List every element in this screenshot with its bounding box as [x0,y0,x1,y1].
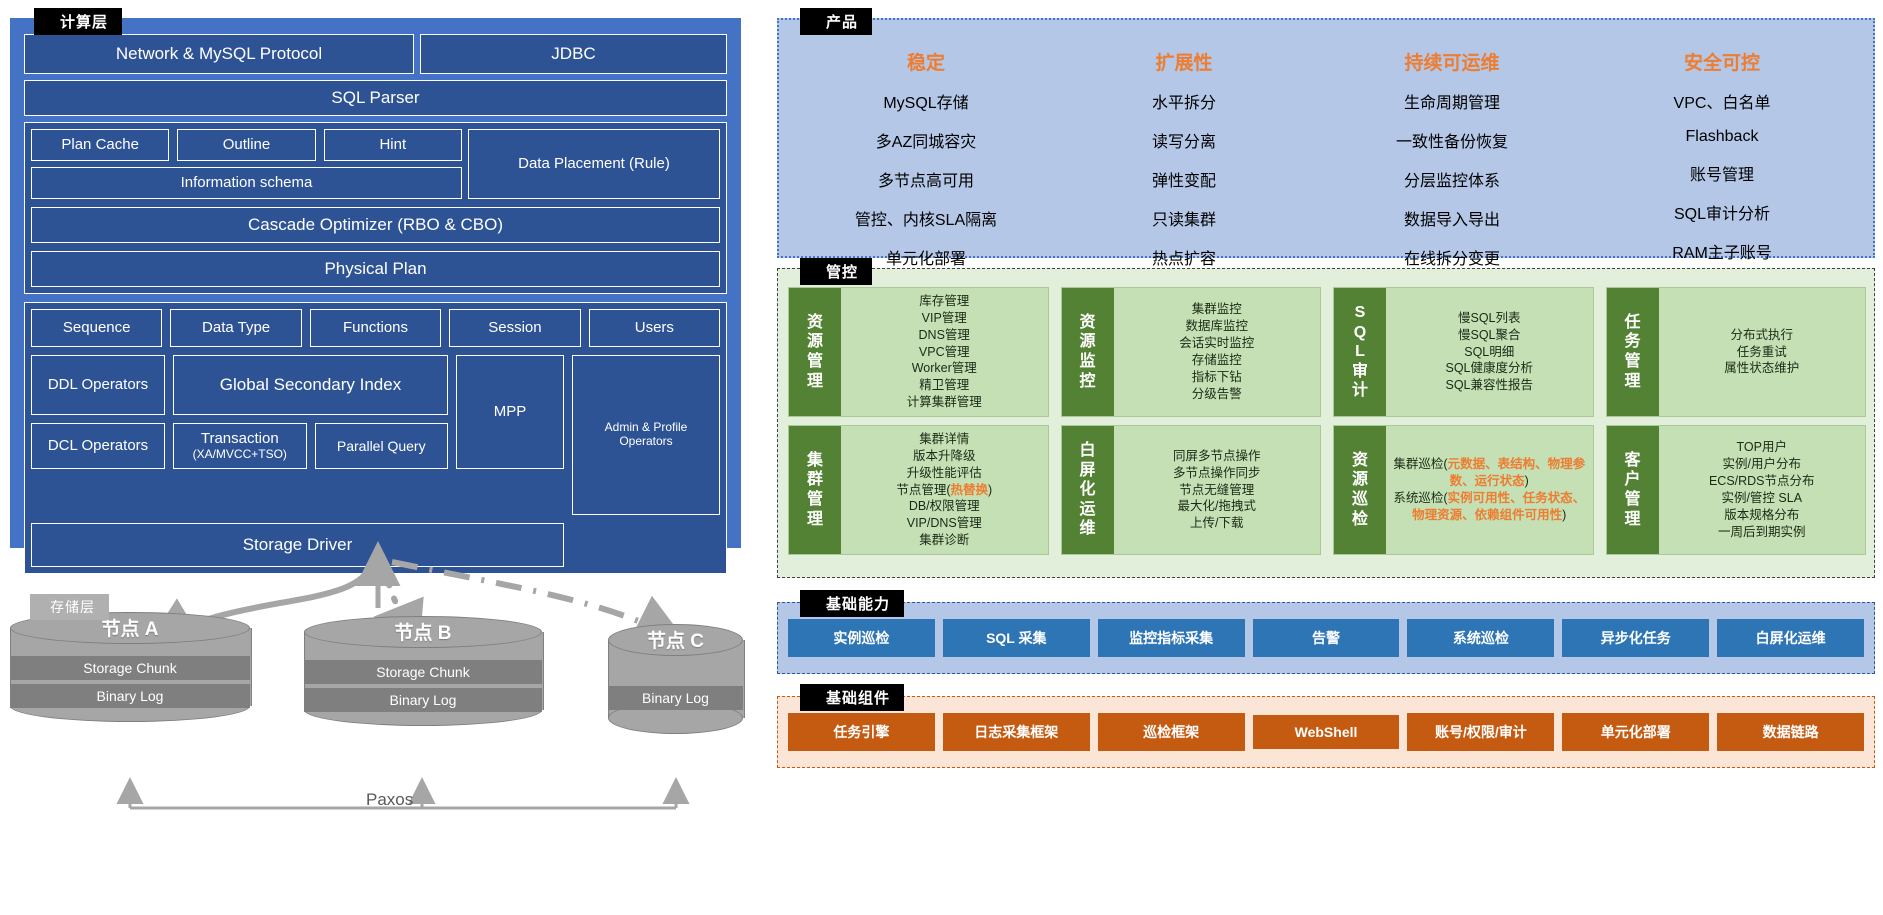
components-tag-label: 基础组件 [826,687,890,708]
mgmt-card-item: ECS/RDS节点分布 [1709,473,1815,490]
mgmt-card-item: 集群巡检(元数据、表结构、物理参数、运行状态) [1389,456,1590,490]
mgmt-card[interactable]: 资源巡检集群巡检(元数据、表结构、物理参数、运行状态)系统巡检(实例可用性、任务… [1333,425,1594,555]
mgmt-card[interactable]: 资源监控集群监控数据库监控会话实时监控存储监控指标下钻分级告警 [1061,287,1322,417]
information-schema-box[interactable]: Information schema [31,167,462,199]
mgmt-card-item: 库存管理 [907,293,982,310]
users-box[interactable]: Users [589,309,720,347]
component-chip[interactable]: 单元化部署 [1562,713,1709,751]
product-column-head: 持续可运维 [1327,48,1577,75]
product-column-stability: 稳定 MySQL存储 多AZ同城容灾 多节点高可用 管控、内核SLA隔离 单元化… [801,48,1051,284]
parallel-query-box[interactable]: Parallel Query [315,423,449,469]
component-chip[interactable]: 任务引擎 [788,713,935,751]
mgmt-card-item: 计算集群管理 [907,394,982,411]
mgmt-card-items: 分布式执行任务重试属性状态维护 [1659,288,1866,416]
jdbc-box[interactable]: JDBC [420,34,727,74]
product-item: 读写分离 [1059,128,1309,152]
product-column-head: 安全可控 [1597,48,1847,75]
product-item: 多节点高可用 [801,167,1051,191]
product-column-head: 稳定 [801,48,1051,75]
mgmt-card-item: 精卫管理 [907,377,982,394]
cascade-optimizer-box[interactable]: Cascade Optimizer (RBO & CBO) [31,207,720,243]
data-placement-box[interactable]: Data Placement (Rule) [468,129,720,199]
dcl-operators-box[interactable]: DCL Operators [31,423,165,469]
product-column-scalability: 扩展性 水平拆分 读写分离 弹性变配 只读集群 热点扩容 [1059,48,1309,284]
storage-node-b[interactable]: 节点 B Storage Chunk Binary Log [304,616,542,728]
mgmt-card-item: 版本升降级 [896,448,992,465]
mgmt-card-item: 分级告警 [1179,386,1254,403]
product-item: 水平拆分 [1059,89,1309,113]
product-item: 热点扩容 [1059,245,1309,269]
mgmt-card-item: 分布式执行 [1724,327,1799,344]
product-item: 账号管理 [1597,161,1847,185]
node-a-band-storage-chunk: Storage Chunk [10,656,250,680]
mpp-box[interactable]: MPP [456,355,564,469]
plan-cache-box[interactable]: Plan Cache [31,129,169,161]
mgmt-card-item: 集群详情 [896,431,992,448]
product-item: RAM主子账号 [1597,239,1847,263]
mgmt-card-title: 资源管理 [789,288,841,416]
mgmt-card-item: 升级性能评估 [896,465,992,482]
capability-chip[interactable]: 异步化任务 [1562,619,1709,657]
mgmt-card-item: 指标下钻 [1179,369,1254,386]
mgmt-card-item: SQL明细 [1445,344,1533,361]
component-chip[interactable]: WebShell [1253,715,1400,749]
mgmt-card-item: 一周后到期实例 [1709,524,1815,541]
mgmt-tag: 管控 [800,258,872,285]
product-item: MySQL存储 [801,89,1051,113]
sequence-box[interactable]: Sequence [31,309,162,347]
physical-plan-box[interactable]: Physical Plan [31,251,720,287]
mgmt-card-title: 客户管理 [1607,426,1659,554]
mgmt-card-item: 集群诊断 [896,532,992,549]
product-column-head: 扩展性 [1059,48,1309,75]
mgmt-card-title: 资源监控 [1062,288,1114,416]
transaction-subtitle: (XA/MVCC+TSO) [193,448,287,462]
node-a-band-binary-log: Binary Log [10,684,250,708]
storage-layer-panel: 节点 A Storage Chunk Binary Log 节点 B Stora… [0,592,760,915]
storage-layer-tag-label: 存储层 [50,597,95,617]
mgmt-card-items: 慢SQL列表慢SQL聚合SQL明细SQL健康度分析SQL兼容性报告 [1386,288,1593,416]
product-panel: 稳定 MySQL存储 多AZ同城容灾 多节点高可用 管控、内核SLA隔离 单元化… [777,18,1875,258]
mgmt-card-item: SQL兼容性报告 [1445,377,1533,394]
mgmt-card-items: 库存管理VIP管理DNS管理VPC管理Worker管理精卫管理计算集群管理 [841,288,1048,416]
mgmt-card-items: 集群巡检(元数据、表结构、物理参数、运行状态)系统巡检(实例可用性、任务状态、物… [1386,426,1593,554]
components-tag: 基础组件 [800,684,904,711]
data-type-box[interactable]: Data Type [170,309,301,347]
mgmt-card[interactable]: 资源管理库存管理VIP管理DNS管理VPC管理Worker管理精卫管理计算集群管… [788,287,1049,417]
mgmt-card-item: 存储监控 [1179,352,1254,369]
product-item: 生命周期管理 [1327,89,1577,113]
product-item: 在线拆分变更 [1327,245,1577,269]
mgmt-card-item: 慢SQL聚合 [1445,327,1533,344]
component-chip[interactable]: 数据链路 [1717,713,1864,751]
node-b-band-binary-log: Binary Log [304,688,542,712]
product-item: VPC、白名单 [1597,89,1847,113]
mgmt-tag-label: 管控 [826,261,858,282]
mgmt-card[interactable]: SQL审计慢SQL列表慢SQL聚合SQL明细SQL健康度分析SQL兼容性报告 [1333,287,1594,417]
mgmt-card-title: SQL审计 [1334,288,1386,416]
mgmt-card-item: 任务重试 [1724,344,1799,361]
mgmt-card[interactable]: 集群管理集群详情版本升降级升级性能评估节点管理(热替换)DB/权限管理VIP/D… [788,425,1049,555]
mgmt-card-item: 节点管理(热替换) [896,482,992,499]
mgmt-card-item: 系统巡检(实例可用性、任务状态、物理资源、依赖组件可用性) [1389,490,1590,524]
network-mysql-protocol-box[interactable]: Network & MySQL Protocol [24,34,414,74]
node-c-label: 节点 C [608,626,743,653]
capability-tag: 基础能力 [800,590,904,617]
mgmt-card-item: VPC管理 [907,344,982,361]
components-panel: 任务引擎 日志采集框架 巡检框架 WebShell 账号/权限/审计 单元化部署… [777,696,1875,768]
mgmt-card-item: Worker管理 [907,360,982,377]
product-item: 数据导入导出 [1327,206,1577,230]
functions-box[interactable]: Functions [310,309,441,347]
mgmt-card-item: 属性状态维护 [1724,360,1799,377]
mgmt-card-item: 集群监控 [1179,301,1254,318]
compute-layer-tag-label: 计算层 [60,11,108,32]
capability-chip[interactable]: 告警 [1253,619,1400,657]
mgmt-card-item: 最大化/拖拽式 [1173,498,1261,515]
mgmt-card-item: 同屏多节点操作 [1173,448,1261,465]
mgmt-card-grid: 资源管理库存管理VIP管理DNS管理VPC管理Worker管理精卫管理计算集群管… [788,287,1866,555]
product-item: 只读集群 [1059,206,1309,230]
mgmt-panel: 资源管理库存管理VIP管理DNS管理VPC管理Worker管理精卫管理计算集群管… [777,268,1875,578]
storage-node-a[interactable]: 节点 A Storage Chunk Binary Log [10,612,250,724]
mgmt-card-item: 会话实时监控 [1179,335,1254,352]
capability-tag-label: 基础能力 [826,593,890,614]
product-item: 管控、内核SLA隔离 [801,206,1051,230]
product-column-security: 安全可控 VPC、白名单 Flashback 账号管理 SQL审计分析 RAM主… [1597,48,1847,278]
mgmt-card-item: 节点无缝管理 [1173,482,1261,499]
node-c-band-binary-log: Binary Log [608,686,743,710]
mgmt-card-item: 数据库监控 [1179,318,1254,335]
mgmt-card-title: 集群管理 [789,426,841,554]
capability-chip[interactable]: 白屏化运维 [1717,619,1864,657]
hint-box[interactable]: Hint [324,129,462,161]
mgmt-card-title: 白屏化运维 [1062,426,1114,554]
capability-chip[interactable]: 监控指标采集 [1098,619,1245,657]
mgmt-card-item: 上传/下载 [1173,515,1261,532]
optimizer-group: Plan Cache Outline Hint Information sche… [24,122,727,294]
product-tag-label: 产品 [826,11,858,32]
product-column-operability: 持续可运维 生命周期管理 一致性备份恢复 分层监控体系 数据导入导出 在线拆分变… [1327,48,1577,284]
execution-group: Sequence Data Type Functions Session Use… [24,302,727,574]
mgmt-card-title: 资源巡检 [1334,426,1386,554]
mgmt-card-item: 版本规格分布 [1709,507,1815,524]
capability-chip[interactable]: SQL 采集 [943,619,1090,657]
mgmt-card-items: 集群详情版本升降级升级性能评估节点管理(热替换)DB/权限管理VIP/DNS管理… [841,426,1048,554]
product-item: Flashback [1597,128,1847,146]
mgmt-card[interactable]: 客户管理TOP用户实例/用户分布ECS/RDS节点分布实例/管控 SLA版本规格… [1606,425,1867,555]
compute-layer-panel: Network & MySQL Protocol JDBC SQL Parser… [10,18,741,548]
mgmt-card-title: 任务管理 [1607,288,1659,416]
compute-layer-tag: 计算层 [34,8,122,35]
capability-chip[interactable]: 实例巡检 [788,619,935,657]
transaction-box[interactable]: Transaction (XA/MVCC+TSO) [173,423,307,469]
session-box[interactable]: Session [449,309,580,347]
product-tag: 产品 [800,8,872,35]
mgmt-card-item: 实例/用户分布 [1709,456,1815,473]
mgmt-card-item: VIP/DNS管理 [896,515,992,532]
mgmt-card-item: 实例/管控 SLA [1709,490,1815,507]
protocol-row: Network & MySQL Protocol JDBC [24,34,727,74]
capability-chip[interactable]: 系统巡检 [1407,619,1554,657]
component-chip[interactable]: 巡检框架 [1098,713,1245,751]
node-b-label: 节点 B [304,618,542,645]
paxos-label: Paxos [366,790,413,810]
component-chip[interactable]: 日志采集框架 [943,713,1090,751]
storage-layer-tag: 存储层 [30,594,109,620]
global-secondary-index-box[interactable]: Global Secondary Index [173,355,448,415]
product-item: SQL审计分析 [1597,200,1847,224]
mgmt-card-items: TOP用户实例/用户分布ECS/RDS节点分布实例/管控 SLA版本规格分布一周… [1659,426,1866,554]
mgmt-card-item: DNS管理 [907,327,982,344]
capability-panel: 实例巡检 SQL 采集 监控指标采集 告警 系统巡检 异步化任务 白屏化运维 [777,602,1875,674]
mgmt-card-item: 慢SQL列表 [1445,310,1533,327]
mgmt-card-item: TOP用户 [1709,439,1815,456]
mgmt-card[interactable]: 白屏化运维同屏多节点操作多节点操作同步节点无缝管理最大化/拖拽式上传/下载 [1061,425,1322,555]
storage-node-c[interactable]: 节点 C Binary Log [608,624,743,728]
sql-parser-box[interactable]: SQL Parser [24,80,727,116]
product-item: 弹性变配 [1059,167,1309,191]
mgmt-card-items: 同屏多节点操作多节点操作同步节点无缝管理最大化/拖拽式上传/下载 [1114,426,1321,554]
outline-box[interactable]: Outline [177,129,315,161]
mgmt-card-items: 集群监控数据库监控会话实时监控存储监控指标下钻分级告警 [1114,288,1321,416]
product-item: 分层监控体系 [1327,167,1577,191]
node-b-band-storage-chunk: Storage Chunk [304,660,542,684]
mgmt-card-item: 多节点操作同步 [1173,465,1261,482]
mgmt-card[interactable]: 任务管理分布式执行任务重试属性状态维护 [1606,287,1867,417]
mgmt-card-item: SQL健康度分析 [1445,360,1533,377]
transaction-title: Transaction [201,430,279,447]
component-chip[interactable]: 账号/权限/审计 [1407,713,1554,751]
ddl-operators-box[interactable]: DDL Operators [31,355,165,415]
mgmt-card-item: VIP管理 [907,310,982,327]
product-item: 多AZ同城容灾 [801,128,1051,152]
product-item: 一致性备份恢复 [1327,128,1577,152]
mgmt-card-item: DB/权限管理 [896,498,992,515]
admin-profile-operators-box[interactable]: Admin & Profile Operators [572,355,720,515]
